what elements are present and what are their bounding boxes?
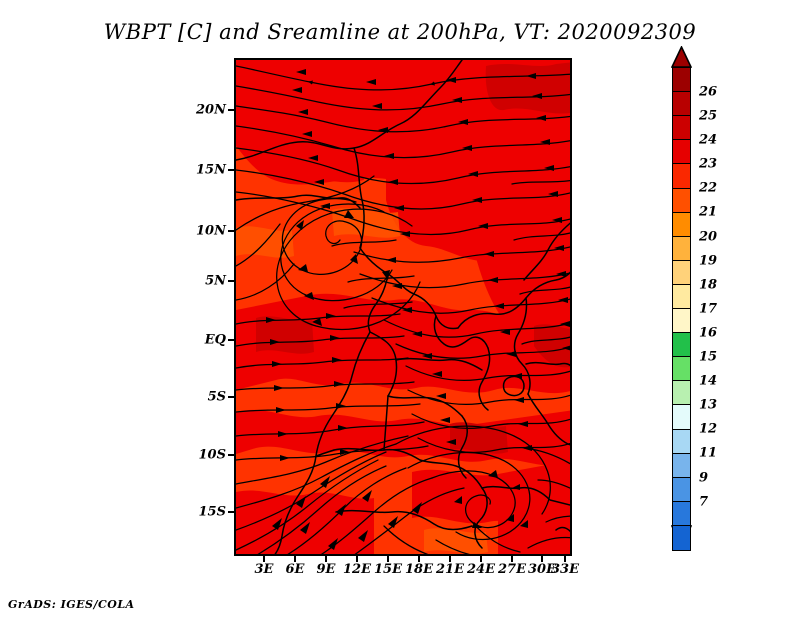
grads-plot-canvas: WBPT [C] and Sreamline at 200hPa, VT: 20… [0,0,800,618]
x-tick-mark [511,556,513,562]
colorbar-band [672,163,691,189]
x-tick-mark [449,556,451,562]
colorbar-tick-label: 9 [699,470,708,485]
x-tick-label-15e: 15E [374,562,402,577]
colorbar-tick-label: 11 [699,446,717,461]
colorbar-band [672,188,691,214]
y-tick-mark [228,280,234,282]
colorbar-band [672,91,691,117]
y-tick-label-5n: 5N [172,274,226,289]
colorbar-top-arrow-icon [671,46,692,68]
x-tick-mark [263,556,265,562]
x-tick-mark [387,556,389,562]
x-tick-mark [541,556,543,562]
colorbar-band [672,212,691,238]
colorbar-tick-label: 19 [699,253,717,268]
colorbar-band [672,115,691,141]
map-plot-area [234,58,572,556]
colorbar-tick-label: 7 [699,494,708,509]
colorbar-tick-label: 25 [699,109,717,124]
colorbar-band [672,67,691,93]
x-tick-label-18e: 18E [405,562,433,577]
y-tick-label-10n: 10N [172,224,226,239]
colorbar-band [672,525,691,551]
y-tick-label-5s: 5S [172,390,226,405]
y-tick-mark [228,511,234,513]
y-tick-mark [228,339,234,341]
x-tick-label-33e: 33E [551,562,579,577]
x-tick-label-27e: 27E [498,562,526,577]
y-tick-mark [228,230,234,232]
colorbar-tick-label: 12 [699,422,717,437]
colorbar-band [672,284,691,310]
colorbar-band [672,380,691,406]
colorbar-tick-label: 16 [699,325,717,340]
x-tick-mark [480,556,482,562]
x-tick-mark [418,556,420,562]
colorbar-tick-label: 14 [699,374,717,389]
colorbar-tick-label: 15 [699,350,717,365]
colorbar-tick-label: 23 [699,157,717,172]
colorbar-band [672,260,691,286]
colorbar-tick-label: 18 [699,277,717,292]
x-tick-label-3e: 3E [255,562,274,577]
colorbar-band [672,477,691,503]
x-tick-mark [294,556,296,562]
y-tick-label-15n: 15N [172,163,226,178]
colorbar: 2625242322212019181716151413121197 [672,67,691,548]
map-svg [236,60,572,556]
colorbar-band [672,429,691,455]
x-tick-label-24e: 24E [467,562,495,577]
y-tick-label-10s: 10S [172,448,226,463]
x-tick-label-6e: 6E [286,562,305,577]
colorbar-band [672,139,691,165]
colorbar-band [672,236,691,262]
y-tick-mark [228,169,234,171]
colorbar-tick-label: 22 [699,181,717,196]
x-tick-mark [564,556,566,562]
footer-credit: GrADS: IGES/COLA [8,598,135,611]
colorbar-band [672,308,691,334]
colorbar-band [672,404,691,430]
y-tick-mark [228,396,234,398]
x-tick-label-9e: 9E [317,562,336,577]
x-tick-mark [325,556,327,562]
colorbar-tick-label: 26 [699,84,717,99]
colorbar-band [672,332,691,358]
colorbar-tick-label: 17 [699,301,717,316]
x-tick-label-21e: 21E [436,562,464,577]
map-inner [236,60,570,554]
y-tick-label-20n: 20N [172,103,226,118]
page-title: WBPT [C] and Sreamline at 200hPa, VT: 20… [0,20,800,44]
y-tick-label-eq: EQ [172,333,226,348]
y-tick-label-15s: 15S [172,505,226,520]
x-tick-mark [356,556,358,562]
colorbar-band [672,501,691,527]
colorbar-tick-label: 21 [699,205,717,220]
x-tick-label-12e: 12E [343,562,371,577]
colorbar-tick-label: 20 [699,229,717,244]
y-tick-mark [228,454,234,456]
y-tick-mark [228,109,234,111]
colorbar-band [672,453,691,479]
colorbar-tick-label: 13 [699,398,717,413]
colorbar-tick-label: 24 [699,133,717,148]
colorbar-band [672,356,691,382]
